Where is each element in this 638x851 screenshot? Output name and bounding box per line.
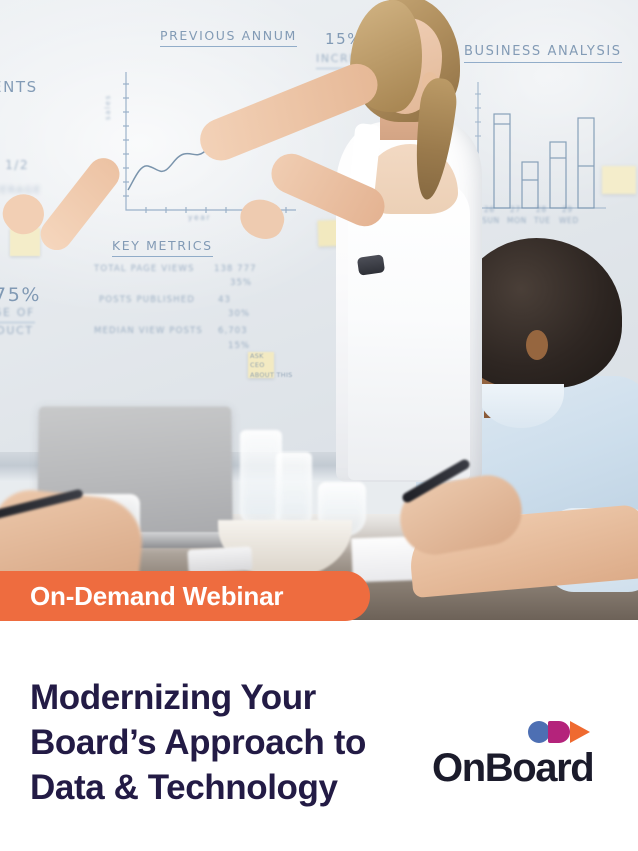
- key-metric-delta-2: 30%: [228, 309, 250, 319]
- play-triangle-icon: [570, 721, 590, 743]
- hero-photo: ENTS 0 = 1/2 AVERAGE 75% AGE OF ODUCT PR…: [0, 0, 638, 620]
- bar-chart-weekday-4: WED: [559, 216, 579, 225]
- onboard-logo-mark: [528, 720, 594, 744]
- key-metric-value-1: 138 777: [214, 264, 257, 274]
- whiteboard-left-fragment-top: ENTS: [0, 78, 38, 96]
- bar-chart-day-3: 28: [536, 205, 547, 214]
- whiteboard-left-fragment-b: = 1/2: [0, 158, 29, 172]
- bar-chart-day-4: 29: [562, 205, 573, 214]
- whiteboard-left-line-2: ODUCT: [0, 324, 34, 337]
- line-chart-x-axis-label: year: [188, 213, 211, 222]
- half-circle-icon: [548, 721, 570, 743]
- wristwatch: [357, 254, 385, 275]
- key-metric-delta-3: 15%: [228, 341, 250, 351]
- key-metric-delta-1: 35%: [230, 278, 252, 288]
- key-metric-label-2: POSTS PUBLISHED: [99, 295, 195, 305]
- circle-icon: [528, 721, 550, 743]
- sticky-note-ask-ceo-text: ASK CEO ABOUT THIS: [250, 352, 293, 380]
- onboard-wordmark: OnBoard: [432, 746, 593, 791]
- key-metric-value-3: 6,703: [218, 326, 248, 336]
- whiteboard-left-percent: 75%: [0, 284, 41, 306]
- bar-chart-weekday-3: TUE: [534, 216, 551, 225]
- key-metric-label-1: TOTAL PAGE VIEWS: [94, 264, 195, 274]
- water-glass-tall-2: [276, 452, 312, 530]
- webinar-promo-card: ENTS 0 = 1/2 AVERAGE 75% AGE OF ODUCT PR…: [0, 0, 638, 851]
- line-chart-title: PREVIOUS ANNUM: [160, 28, 297, 47]
- key-metric-value-2: 43: [218, 295, 231, 305]
- smartphone: [187, 546, 252, 573]
- page-title-line-1: Modernizing Your: [30, 676, 430, 721]
- bar-chart-day-2: 27: [510, 205, 521, 214]
- page-title-line-3: Data & Technology: [30, 766, 430, 811]
- key-metrics-heading: KEY METRICS: [112, 238, 213, 257]
- key-metric-label-3: MEDIAN VIEW POSTS: [94, 326, 203, 336]
- sticky-note-right: [602, 166, 636, 194]
- badge-label: On-Demand Webinar: [30, 581, 283, 612]
- page-title-line-2: Board’s Approach to: [30, 721, 430, 766]
- whiteboard-left-line-1: AGE OF: [0, 306, 35, 323]
- presenter-person: [296, 0, 508, 480]
- bottom-panel: Modernizing Your Board’s Approach to Dat…: [0, 620, 638, 851]
- onboard-logo: OnBoard: [432, 720, 598, 794]
- line-chart-y-axis-label: sales: [104, 94, 112, 120]
- on-demand-webinar-badge: On-Demand Webinar: [0, 571, 370, 621]
- bar-chart-weekday-2: MON: [507, 216, 527, 225]
- page-title: Modernizing Your Board’s Approach to Dat…: [30, 676, 430, 810]
